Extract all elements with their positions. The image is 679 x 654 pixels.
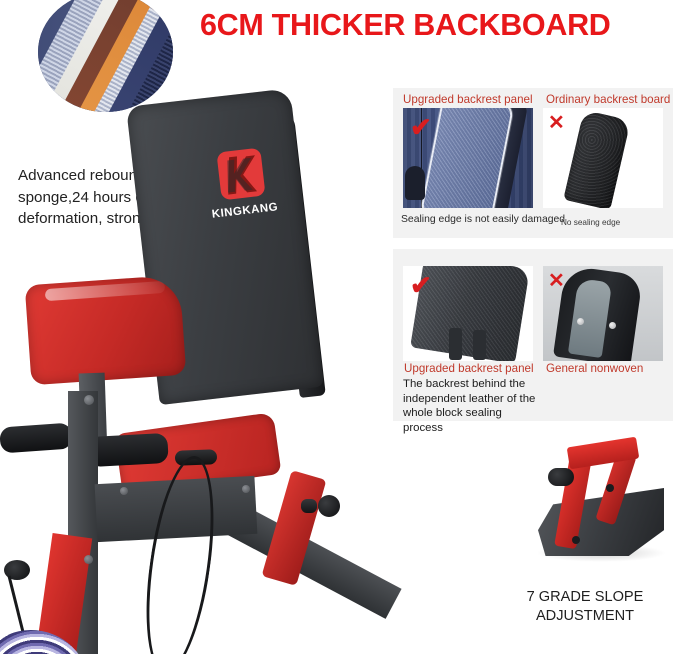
check-mark-icon: ✔ xyxy=(410,272,432,298)
comparison-2-good-title: Upgraded backrest panel xyxy=(404,362,534,375)
frame-bolt xyxy=(84,395,94,405)
slope-adjustment-caption: 7 GRADE SLOPE ADJUSTMENT xyxy=(490,588,679,625)
cross-mark-icon: ✕ xyxy=(548,271,565,291)
comparison-1-bad-title: Ordinary backrest board xyxy=(546,93,670,106)
comparison-2-bad-title: General nonwoven xyxy=(546,362,643,375)
adjust-knob xyxy=(318,495,340,517)
leg-roller-upper xyxy=(0,423,73,454)
kingkang-k-logo-icon xyxy=(216,148,265,201)
page-title: 6CM THICKER BACKBOARD xyxy=(200,8,679,43)
frame-bolt xyxy=(120,487,128,495)
slope-caption-line-2: ADJUSTMENT xyxy=(490,607,679,626)
comparison-2-good-caption: The backrest behind the independent leat… xyxy=(403,377,543,435)
cross-mark-icon: ✕ xyxy=(548,113,565,133)
weight-bench-product-image: KINGKANG xyxy=(0,95,400,654)
comparison-1-good-title: Upgraded backrest panel xyxy=(403,93,533,106)
slope-caption-line-1: 7 GRADE SLOPE xyxy=(490,588,679,607)
comparison-1-good-caption: Sealing edge is not easily damaged xyxy=(401,214,565,225)
check-mark-icon: ✔ xyxy=(410,114,432,140)
comparison-1-bad-caption: No sealing edge xyxy=(561,218,620,227)
frame-bolt xyxy=(84,555,93,564)
adjust-knob-stem xyxy=(301,499,317,513)
frame-bolt xyxy=(242,485,250,493)
slope-adjustment-bracket-photo xyxy=(520,432,675,587)
product-marketing-image: 6CM THICKER BACKBOARD Advanced rebound r… xyxy=(0,0,679,654)
leg-roller-lower xyxy=(87,433,168,467)
